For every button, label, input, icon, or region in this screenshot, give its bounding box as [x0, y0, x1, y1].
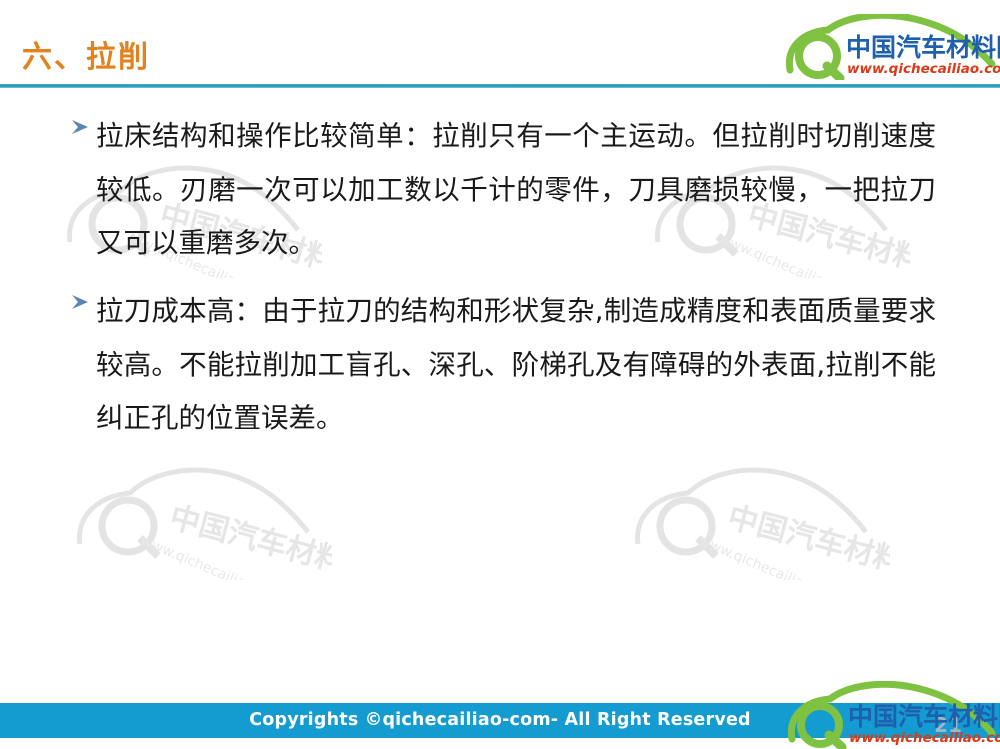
slide-body: 拉床结构和操作比较简单：拉削只有一个主运动。但拉削时切削速度较低。刃磨一次可以加…: [0, 110, 1000, 460]
brand-logo-header[interactable]: 中国汽车材料网 www.qichecailiao.com: [784, 14, 1000, 80]
brand-url: www.qichecailiao.com: [849, 730, 1000, 746]
page-title: 六、拉削: [22, 32, 150, 76]
presentation-slide: 中国汽车材料网 www.qichecailiao.com 中国汽车材料网 www…: [0, 0, 1000, 749]
car-q-watermark-icon: 中国汽车材料网 www.qichecailiao.com: [630, 460, 890, 580]
list-item-text: 拉床结构和操作比较简单：拉削只有一个主运动。但拉削时切削速度较低。刃磨一次可以加…: [96, 110, 936, 271]
arrow-bullet-icon: [70, 285, 96, 311]
svg-text:中国汽车材料网: 中国汽车材料网: [724, 500, 890, 580]
car-q-watermark-icon: 中国汽车材料网 www.qichecailiao.com: [72, 460, 332, 580]
svg-text:www.qichecailiao.com: www.qichecailiao.com: [138, 533, 287, 580]
list-item: 拉床结构和操作比较简单：拉削只有一个主运动。但拉削时切削速度较低。刃磨一次可以加…: [0, 110, 1000, 271]
list-item-text: 拉刀成本高：由于拉刀的结构和形状复杂,制造成精度和表面质量要求较高。不能拉削加工…: [96, 285, 936, 446]
brand-url: www.qichecailiao.com: [847, 61, 1000, 77]
arrow-bullet-icon: [70, 110, 96, 136]
svg-text:中国汽车材料网: 中国汽车材料网: [166, 500, 332, 580]
header-divider: [0, 84, 1000, 88]
brand-name-cn: 中国汽车材料网: [848, 702, 1000, 731]
svg-text:www.qichecailiao.com: www.qichecailiao.com: [696, 533, 845, 580]
brand-name-cn: 中国汽车材料网: [846, 33, 1000, 62]
slide-header: 六、拉削 中国汽车材料网 www.qichecailiao.com: [0, 0, 1000, 86]
list-item: 拉刀成本高：由于拉刀的结构和形状复杂,制造成精度和表面质量要求较高。不能拉削加工…: [0, 285, 1000, 446]
brand-logo-footer[interactable]: 中国汽车材料网 www.qichecailiao.com: [786, 681, 1000, 749]
